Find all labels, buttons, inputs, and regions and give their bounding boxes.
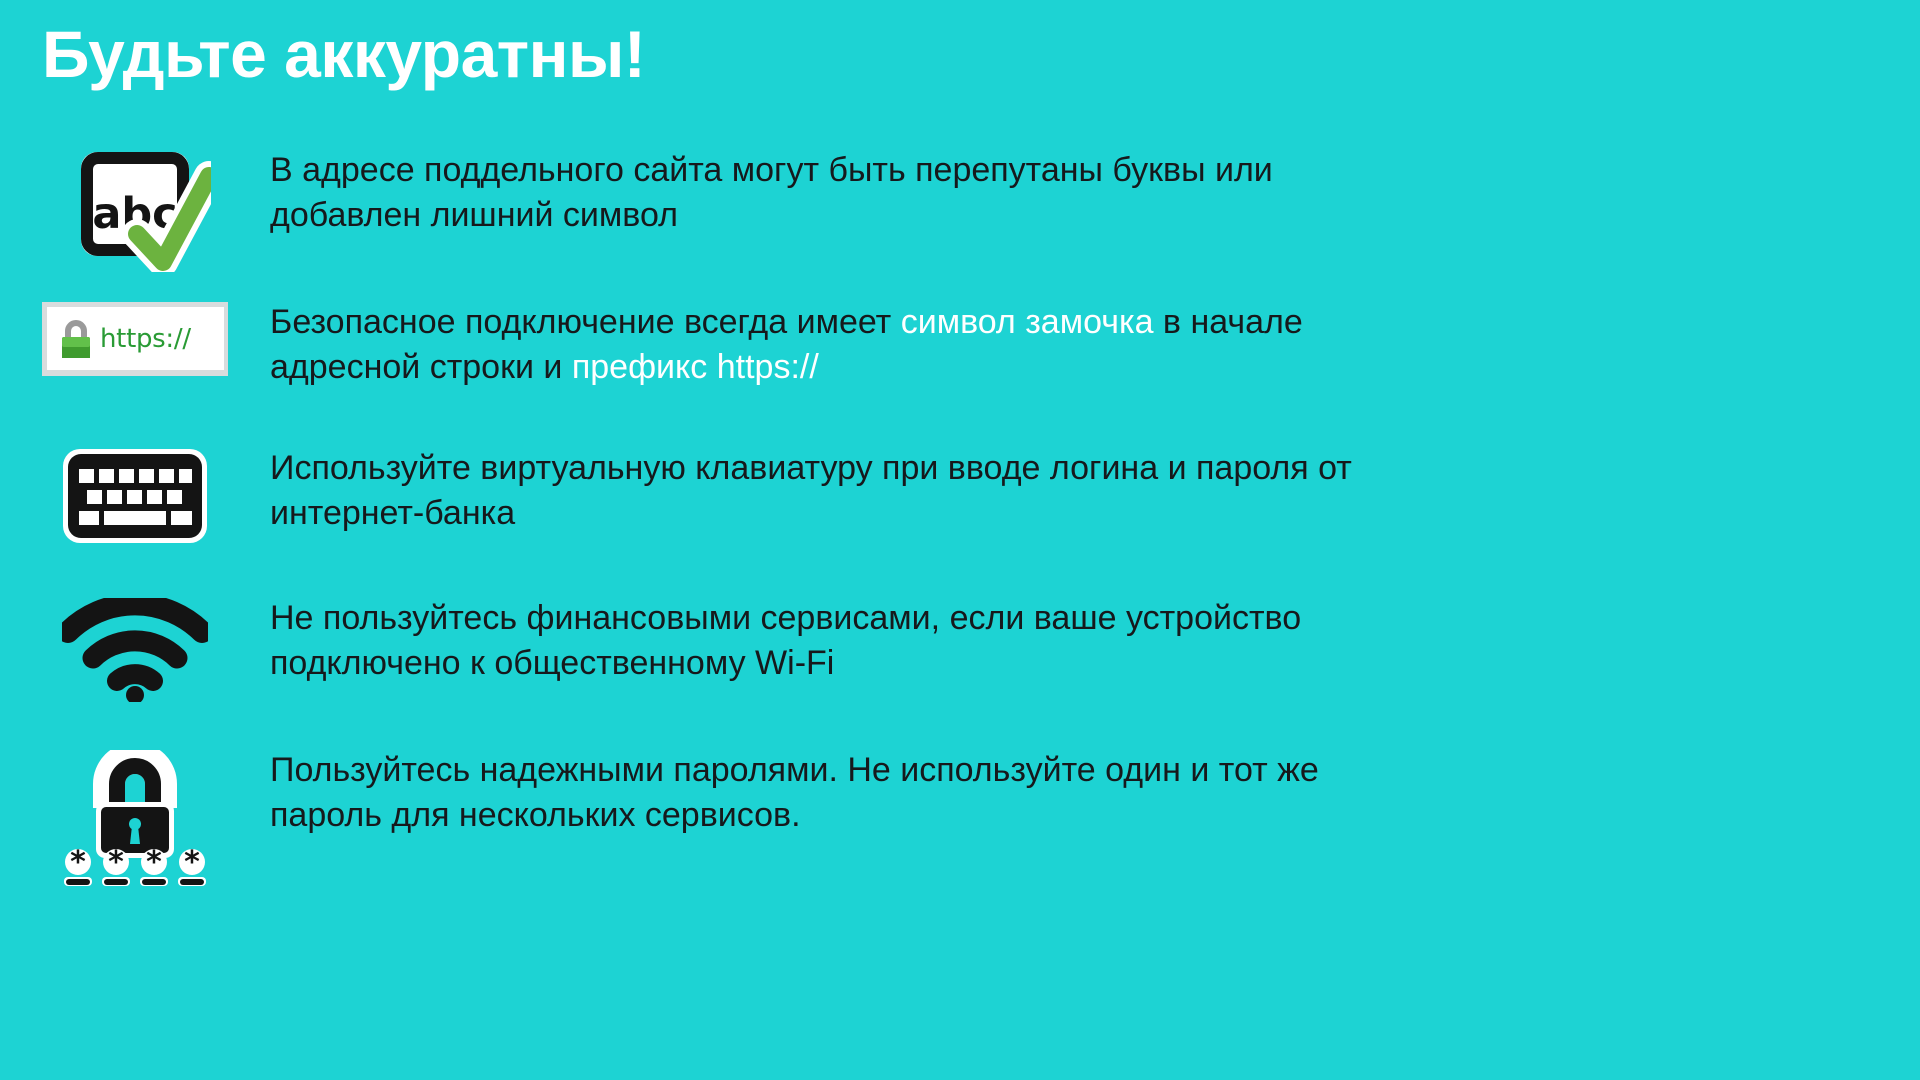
tip-text: Используйте виртуальную клавиатуру при в… xyxy=(270,446,1920,536)
tip-line: Безопасное подключение всегда имеет симв… xyxy=(270,300,1850,345)
page-title: Будьте аккуратны! xyxy=(42,18,645,91)
tip-line: Не пользуйтесь финансовыми сервисами, ес… xyxy=(270,596,1850,641)
keyboard-icon xyxy=(62,448,208,544)
tip-row: abc В адресе поддельного сайта могут быт… xyxy=(0,148,1920,272)
tip-text-segment: Не пользуйтесь финансовыми сервисами, ес… xyxy=(270,599,1301,637)
padlock-icon xyxy=(59,318,93,360)
tip-row: https:// Безопасное подключение всегда и… xyxy=(0,300,1920,420)
tip-line: В адресе поддельного сайта могут быть пе… xyxy=(270,148,1850,193)
svg-text:*: * xyxy=(70,845,86,880)
tip-line: добавлен лишний символ xyxy=(270,193,1850,238)
tip-text-segment: интернет-банка xyxy=(270,494,515,532)
tips-list: abc В адресе поддельного сайта могут быт… xyxy=(0,148,1920,886)
https-padlock-icon: https:// xyxy=(42,302,228,376)
slide-root: Будьте аккуратны! abc xyxy=(0,0,1920,1080)
abc-check-icon: abc xyxy=(59,150,211,272)
tip-text: Безопасное подключение всегда имеет симв… xyxy=(270,300,1920,390)
svg-text:*: * xyxy=(184,845,200,880)
tip-line: подключено к общественному Wi-Fi xyxy=(270,641,1850,686)
tip-line: Пользуйтесь надежными паролями. Не испол… xyxy=(270,748,1850,793)
tip-text-segment: подключено к общественному Wi-Fi xyxy=(270,644,834,682)
svg-text:*: * xyxy=(108,845,124,880)
tip-row: Не пользуйтесь финансовыми сервисами, ес… xyxy=(0,596,1920,716)
tip-icon-cell xyxy=(0,596,270,702)
tip-line: адресной строки и префикс https:// xyxy=(270,345,1850,390)
tip-icon-cell: https:// xyxy=(0,300,270,376)
tip-icon-cell: * * * xyxy=(0,748,270,886)
tip-line: пароль для нескольких сервисов. xyxy=(270,793,1850,838)
tip-text-segment: Используйте виртуальную клавиатуру при в… xyxy=(270,449,1352,487)
tip-text: В адресе поддельного сайта могут быть пе… xyxy=(270,148,1920,238)
tip-line: Используйте виртуальную клавиатуру при в… xyxy=(270,446,1850,491)
tip-icon-cell xyxy=(0,446,270,544)
password-lock-icon: * * * xyxy=(55,750,215,886)
tip-text-segment: добавлен лишний символ xyxy=(270,196,678,234)
tip-text: Не пользуйтесь финансовыми сервисами, ес… xyxy=(270,596,1920,686)
tip-text-segment: В адресе поддельного сайта могут быть пе… xyxy=(270,151,1273,189)
wifi-icon xyxy=(62,598,208,702)
tip-text-segment: адресной строки и xyxy=(270,348,572,386)
tip-text: Пользуйтесь надежными паролями. Не испол… xyxy=(270,748,1920,838)
tip-text-highlight: префикс https:// xyxy=(572,348,819,386)
tip-text-segment: в начале xyxy=(1153,303,1302,341)
tip-icon-cell: abc xyxy=(0,148,270,272)
address-bar-mock: https:// xyxy=(47,307,224,370)
tip-text-segment: пароль для нескольких сервисов. xyxy=(270,796,801,834)
tip-text-segment: Безопасное подключение всегда имеет xyxy=(270,303,901,341)
tip-line: интернет-банка xyxy=(270,491,1850,536)
tip-row: * * * xyxy=(0,748,1920,886)
https-label: https:// xyxy=(100,326,191,352)
svg-text:*: * xyxy=(146,845,162,880)
tip-text-highlight: символ замочка xyxy=(901,303,1154,341)
tip-text-segment: Пользуйтесь надежными паролями. Не испол… xyxy=(270,751,1319,789)
tip-row: Используйте виртуальную клавиатуру при в… xyxy=(0,446,1920,566)
